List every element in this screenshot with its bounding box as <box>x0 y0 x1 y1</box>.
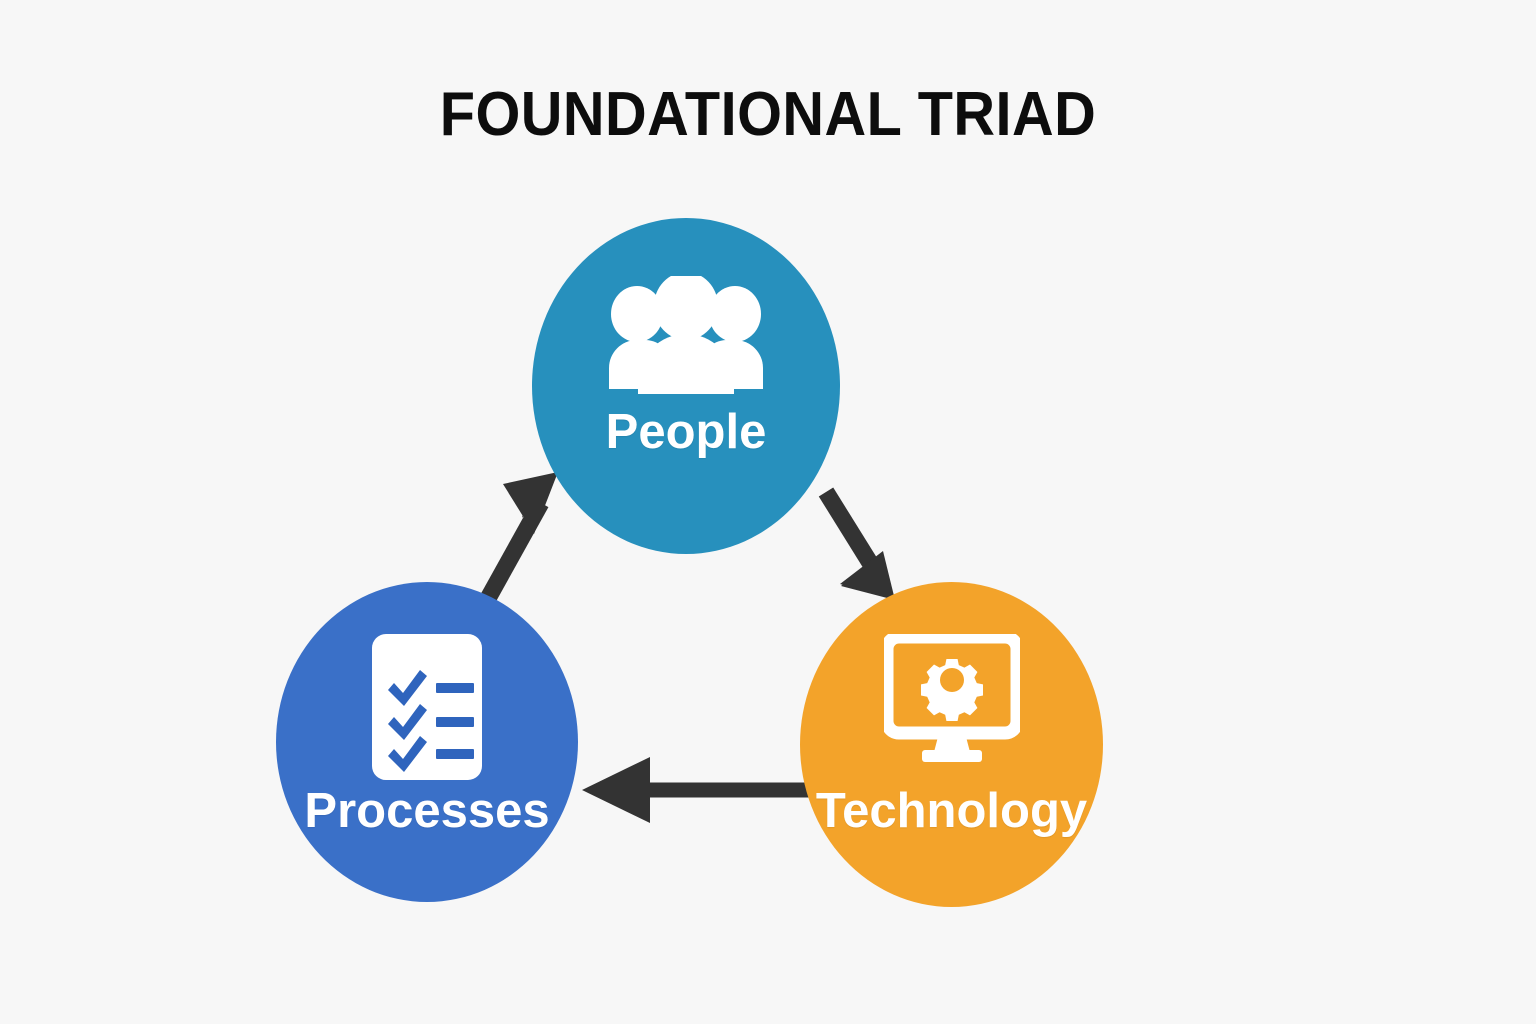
people-group-icon <box>600 276 772 394</box>
node-label-technology: Technology <box>800 787 1103 836</box>
node-processes[interactable]: Processes <box>276 582 578 902</box>
node-people[interactable]: People <box>532 218 840 554</box>
node-label-people: People <box>532 408 840 457</box>
node-technology[interactable]: Technology <box>800 582 1103 907</box>
arrow-technology-to-processes <box>582 757 820 823</box>
checklist-clipboard-icon <box>372 634 482 780</box>
page-title: FOUNDATIONAL TRIAD <box>54 84 1482 146</box>
arrow-people-to-technology <box>826 492 895 600</box>
monitor-gear-icon <box>884 634 1020 762</box>
diagram-canvas: FOUNDATIONAL TRIAD <box>0 0 1536 1024</box>
node-label-processes: Processes <box>276 787 578 836</box>
